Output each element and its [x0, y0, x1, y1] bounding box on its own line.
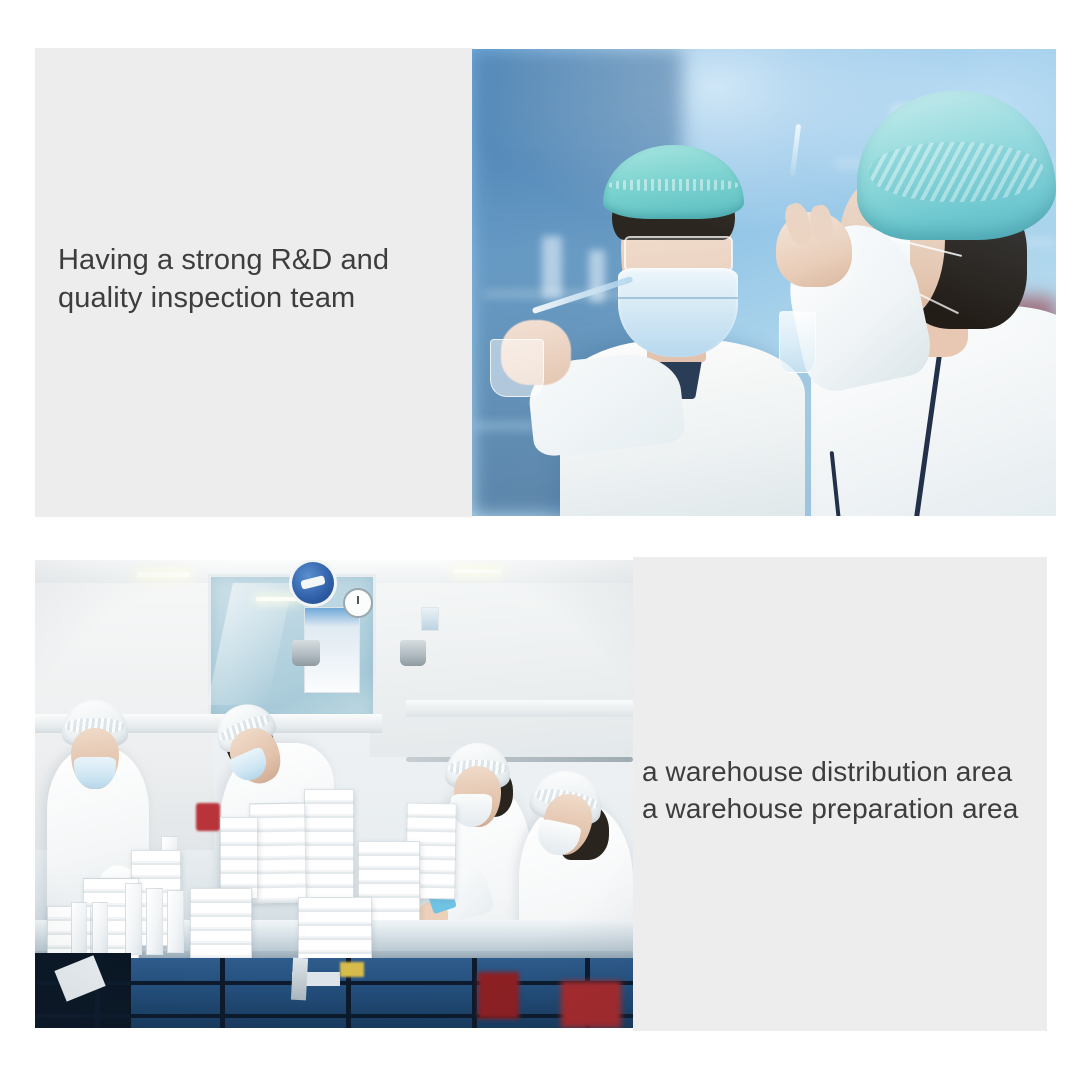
ceiling-light — [137, 572, 191, 577]
carton-box — [146, 888, 164, 956]
carton-box — [125, 883, 143, 955]
table-crossbar — [35, 1014, 633, 1018]
lab-sample-vial — [779, 311, 816, 374]
carton-stack — [304, 789, 354, 913]
carton-box — [71, 902, 87, 960]
rnd-photo-scene — [472, 49, 1056, 516]
steel-canister — [292, 640, 320, 666]
metal-strip — [291, 957, 308, 1000]
rnd-photo — [472, 49, 1056, 516]
warehouse-photo — [35, 560, 633, 1028]
carton-stack — [298, 897, 372, 960]
technician-one-mask-fold — [618, 297, 738, 299]
metal-rail — [406, 757, 633, 762]
red-item — [196, 803, 220, 831]
carton-box — [92, 902, 108, 960]
steel-canister — [400, 640, 426, 666]
carton-box — [167, 890, 185, 953]
rnd-caption: Having a strong R&D and quality inspecti… — [58, 241, 458, 317]
wall-equipment-box — [421, 607, 439, 631]
lab-bottle — [542, 236, 562, 298]
technician-one-safety-glasses — [624, 236, 733, 273]
red-item — [561, 981, 621, 1028]
wall-clock-icon — [343, 588, 373, 618]
ceiling-light — [256, 597, 298, 601]
back-counter — [406, 700, 633, 716]
warehouse-caption: a warehouse distribution area a warehous… — [642, 753, 1052, 827]
ceiling-light — [454, 569, 502, 573]
red-item — [478, 972, 520, 1019]
yellow-marker — [340, 962, 364, 976]
lab-beaker — [490, 339, 545, 397]
warehouse-photo-scene — [35, 560, 633, 1028]
